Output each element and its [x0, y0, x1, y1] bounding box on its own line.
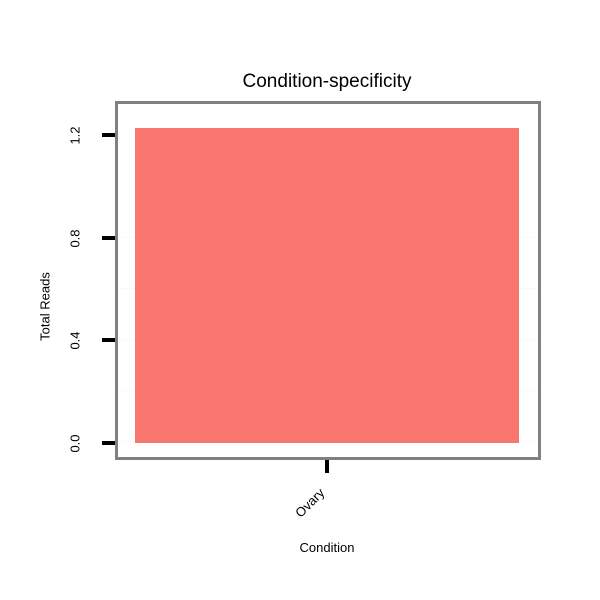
y-tick-label-0: 0.0: [68, 426, 83, 462]
chart-title: Condition-specificity: [0, 71, 600, 93]
x-tick-mark-0: [325, 460, 329, 473]
y-tick-mark-2: [102, 236, 115, 240]
y-tick-label-1: 0.4: [68, 323, 83, 359]
y-tick-mark-0: [102, 441, 115, 445]
y-tick-mark-3: [102, 133, 115, 137]
plot-panel: [115, 101, 541, 460]
y-tick-label-2: 0.8: [68, 221, 83, 257]
y-tick-mark-1: [102, 338, 115, 342]
y-axis-label: Total Reads: [38, 227, 53, 387]
plot-area: [118, 104, 538, 457]
x-axis-label: Condition: [0, 540, 600, 555]
bar-ovary[interactable]: [135, 128, 519, 443]
chart-canvas: Condition-specificity Total Reads 0.0 0.…: [0, 0, 600, 600]
y-tick-label-3: 1.2: [68, 118, 83, 154]
